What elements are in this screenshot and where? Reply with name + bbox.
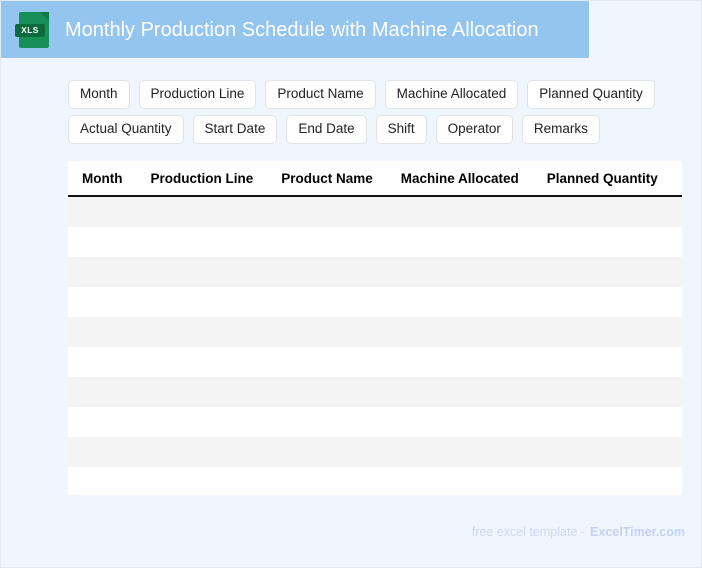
table-cell[interactable]: [533, 377, 672, 407]
table-cell[interactable]: [387, 287, 533, 317]
table-cell[interactable]: [267, 257, 387, 287]
table-cell[interactable]: [68, 377, 136, 407]
table-cell[interactable]: [136, 196, 267, 227]
table-cell[interactable]: [533, 287, 672, 317]
filter-chip-area: Month Production Line Product Name Machi…: [68, 80, 688, 150]
table-cell[interactable]: [387, 257, 533, 287]
table-cell[interactable]: [387, 437, 533, 467]
footer-brand-link[interactable]: ExcelTimer.com: [590, 525, 685, 539]
data-table-head: Month Production Line Product Name Machi…: [68, 161, 682, 196]
table-cell[interactable]: [136, 257, 267, 287]
table-cell[interactable]: [68, 347, 136, 377]
filter-chip-planned-quantity[interactable]: Planned Quantity: [527, 80, 655, 109]
column-header-product-name[interactable]: Product Name: [267, 161, 387, 196]
table-cell[interactable]: [672, 377, 682, 407]
table-cell[interactable]: [672, 317, 682, 347]
table-cell[interactable]: [267, 347, 387, 377]
table-cell[interactable]: [68, 196, 136, 227]
table-cell[interactable]: [533, 317, 672, 347]
table-cell[interactable]: [533, 467, 672, 495]
filter-chip-remarks[interactable]: Remarks: [522, 115, 600, 144]
table-cell[interactable]: [136, 317, 267, 347]
table-cell[interactable]: [267, 196, 387, 227]
table-cell[interactable]: [387, 196, 533, 227]
table-row[interactable]: [68, 377, 682, 407]
column-header-production-line[interactable]: Production Line: [136, 161, 267, 196]
filter-chip-row-1: Month Production Line Product Name Machi…: [68, 80, 688, 109]
column-header-actual-quantity[interactable]: Actual Quantity: [672, 161, 682, 196]
table-cell[interactable]: [672, 196, 682, 227]
table-cell[interactable]: [533, 407, 672, 437]
table-cell[interactable]: [136, 227, 267, 257]
table-cell[interactable]: [267, 377, 387, 407]
table-cell[interactable]: [533, 227, 672, 257]
filter-chip-production-line[interactable]: Production Line: [139, 80, 257, 109]
table-cell[interactable]: [533, 257, 672, 287]
filter-chip-operator[interactable]: Operator: [436, 115, 513, 144]
table-cell[interactable]: [672, 287, 682, 317]
table-cell[interactable]: [136, 287, 267, 317]
data-table-body: [68, 196, 682, 495]
title-banner: XLS Monthly Production Schedule with Mac…: [1, 1, 589, 58]
xls-icon-fold: [40, 12, 49, 21]
filter-chip-product-name[interactable]: Product Name: [265, 80, 375, 109]
data-table-container[interactable]: Month Production Line Product Name Machi…: [68, 161, 682, 495]
table-cell[interactable]: [136, 467, 267, 495]
table-cell[interactable]: [267, 407, 387, 437]
column-header-month[interactable]: Month: [68, 161, 136, 196]
filter-chip-shift[interactable]: Shift: [376, 115, 427, 144]
xls-file-icon: XLS: [19, 12, 49, 48]
table-cell[interactable]: [672, 347, 682, 377]
table-row[interactable]: [68, 257, 682, 287]
filter-chip-start-date[interactable]: Start Date: [193, 115, 278, 144]
table-cell[interactable]: [68, 257, 136, 287]
table-row[interactable]: [68, 287, 682, 317]
filter-chip-end-date[interactable]: End Date: [286, 115, 366, 144]
table-cell[interactable]: [136, 347, 267, 377]
table-cell[interactable]: [672, 437, 682, 467]
table-cell[interactable]: [136, 377, 267, 407]
table-cell[interactable]: [672, 257, 682, 287]
table-header-row: Month Production Line Product Name Machi…: [68, 161, 682, 196]
table-row[interactable]: [68, 196, 682, 227]
data-table: Month Production Line Product Name Machi…: [68, 161, 682, 495]
page-title: Monthly Production Schedule with Machine…: [65, 18, 539, 42]
table-cell[interactable]: [136, 407, 267, 437]
table-cell[interactable]: [267, 437, 387, 467]
table-row[interactable]: [68, 407, 682, 437]
table-cell[interactable]: [387, 227, 533, 257]
footer-text: free excel template -: [472, 525, 585, 539]
table-cell[interactable]: [68, 407, 136, 437]
table-cell[interactable]: [68, 227, 136, 257]
table-cell[interactable]: [387, 377, 533, 407]
table-cell[interactable]: [672, 467, 682, 495]
filter-chip-actual-quantity[interactable]: Actual Quantity: [68, 115, 184, 144]
xls-icon-badge: XLS: [15, 24, 45, 37]
table-cell[interactable]: [533, 437, 672, 467]
table-row[interactable]: [68, 317, 682, 347]
footer-credit: free excel template -ExcelTimer.com: [472, 524, 685, 540]
column-header-planned-quantity[interactable]: Planned Quantity: [533, 161, 672, 196]
table-row[interactable]: [68, 437, 682, 467]
table-cell[interactable]: [267, 467, 387, 495]
table-cell[interactable]: [672, 227, 682, 257]
filter-chip-month[interactable]: Month: [68, 80, 130, 109]
table-cell[interactable]: [267, 287, 387, 317]
table-cell[interactable]: [672, 407, 682, 437]
table-cell[interactable]: [387, 407, 533, 437]
table-cell[interactable]: [68, 287, 136, 317]
table-cell[interactable]: [387, 347, 533, 377]
table-cell[interactable]: [387, 317, 533, 347]
table-row[interactable]: [68, 467, 682, 495]
filter-chip-machine-allocated[interactable]: Machine Allocated: [385, 80, 519, 109]
table-cell[interactable]: [267, 227, 387, 257]
table-cell[interactable]: [533, 347, 672, 377]
column-header-machine-allocated[interactable]: Machine Allocated: [387, 161, 533, 196]
table-cell[interactable]: [68, 437, 136, 467]
table-cell[interactable]: [533, 196, 672, 227]
filter-chip-row-2: Actual Quantity Start Date End Date Shif…: [68, 115, 688, 144]
table-cell[interactable]: [267, 317, 387, 347]
table-row[interactable]: [68, 227, 682, 257]
page-root: XLS Monthly Production Schedule with Mac…: [0, 0, 702, 568]
table-row[interactable]: [68, 347, 682, 377]
table-cell[interactable]: [68, 317, 136, 347]
table-cell[interactable]: [387, 467, 533, 495]
table-cell[interactable]: [136, 437, 267, 467]
table-cell[interactable]: [68, 467, 136, 495]
